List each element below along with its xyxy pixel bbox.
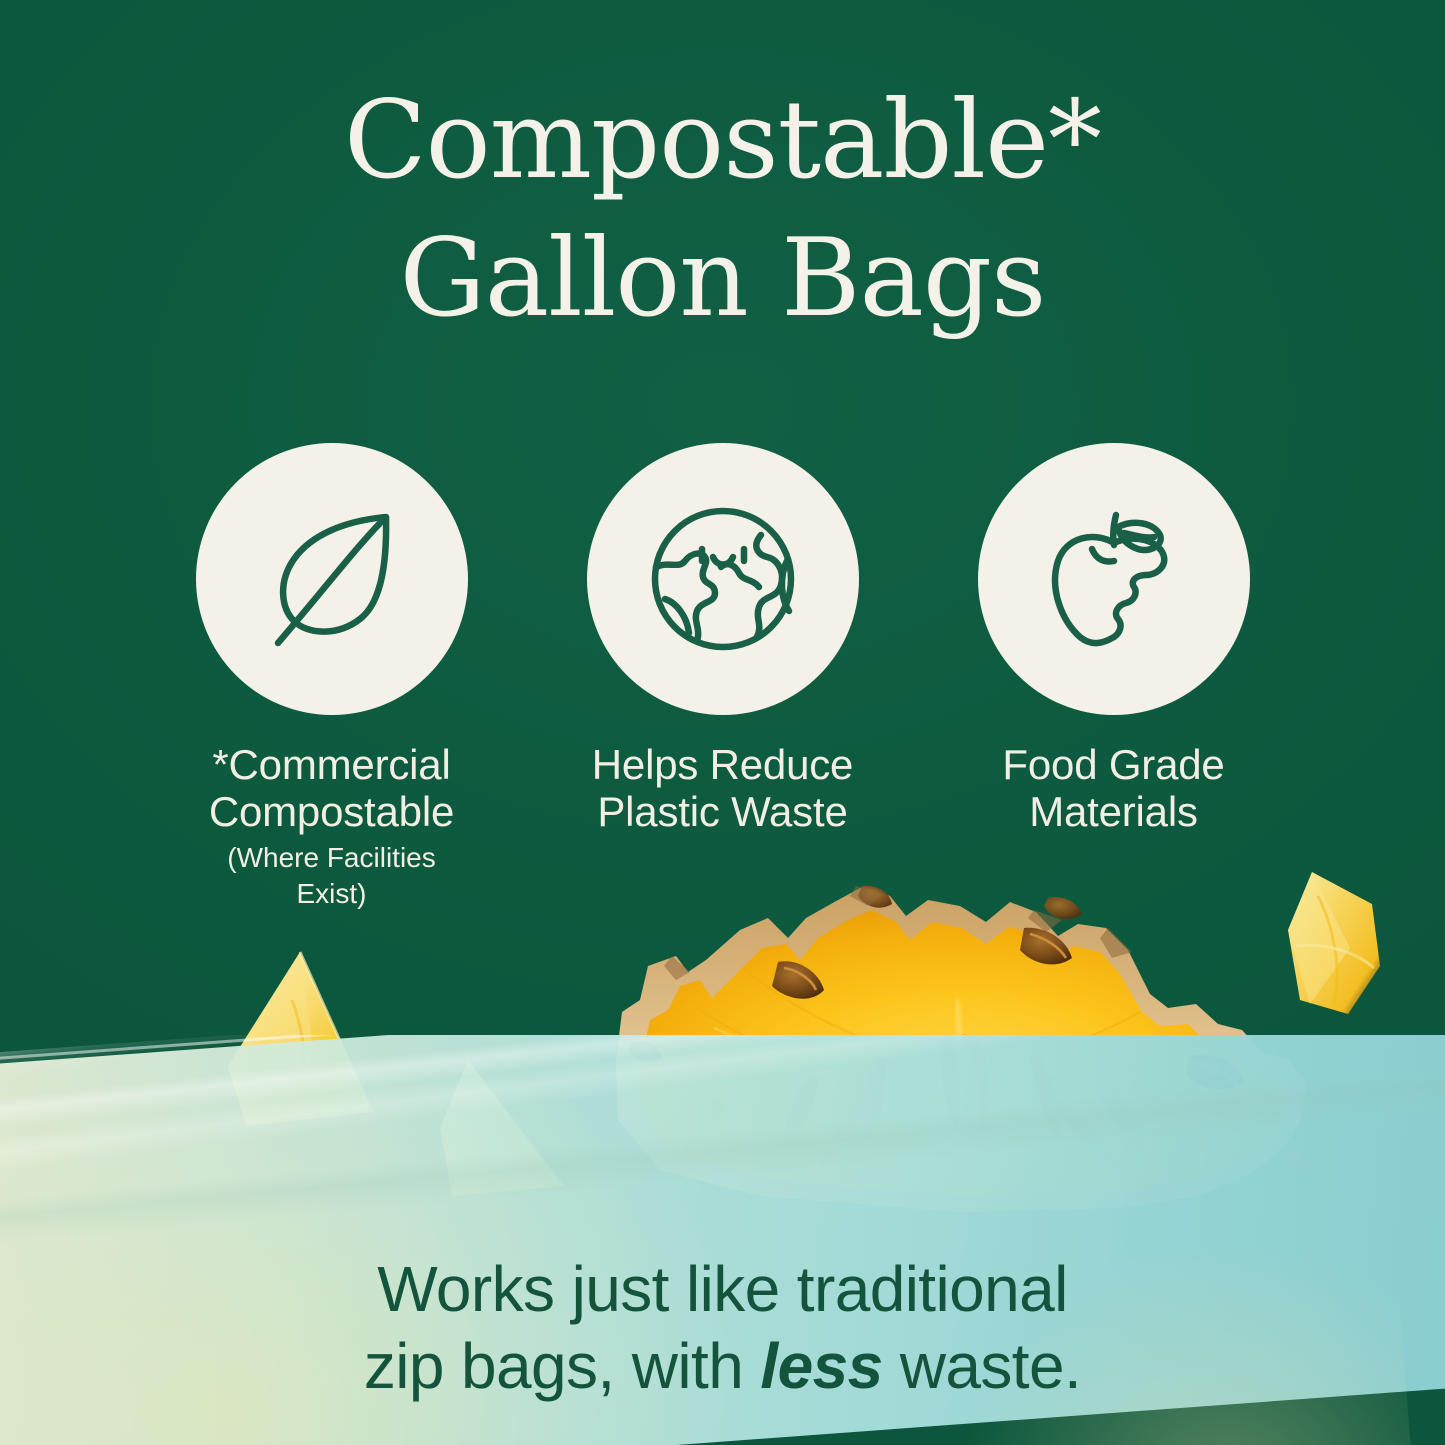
leaf-icon [248,495,416,663]
feature-caption: *Commercial Compostable (Where Facilitie… [196,741,468,913]
feature-icon-disc [978,443,1250,715]
tagline-line-2-a: zip bags, with [364,1330,761,1402]
page-title: Compostable* Gallon Bags [0,72,1445,348]
feature-row: *Commercial Compostable (Where Facilitie… [0,443,1445,913]
tagline-emphasis: less [760,1330,882,1402]
feature-helps-reduce-plastic-waste: Helps Reduce Plastic Waste [587,443,859,913]
headline-line-1: Compostable* [344,78,1101,203]
feature-label-line1: Food Grade [1002,741,1224,788]
feature-commercial-compostable: *Commercial Compostable (Where Facilitie… [196,443,468,913]
feature-caption: Helps Reduce Plastic Waste [592,741,853,836]
feature-icon-disc [196,443,468,715]
tagline-line-2-b: waste. [883,1330,1082,1402]
apple-bite-icon [1030,495,1198,663]
feature-label-line1: Helps Reduce [592,741,853,788]
tagline-line-2: zip bags, with less waste. [150,1328,1295,1405]
feature-note: (Where Facilities Exist) [196,840,468,913]
tagline: Works just like traditional zip bags, wi… [0,1251,1445,1405]
feature-icon-disc [587,443,859,715]
headline-line-2: Gallon Bags [120,210,1325,348]
feature-food-grade-materials: Food Grade Materials [978,443,1250,913]
feature-label-line2: Materials [1029,788,1198,835]
feature-caption: Food Grade Materials [1002,741,1224,836]
feature-label-line1: *Commercial [212,741,450,788]
feature-label-line2: Compostable [209,788,454,835]
earth-smile-icon [639,495,807,663]
feature-label-line2: Plastic Waste [597,788,847,835]
tagline-line-1: Works just like traditional [377,1253,1067,1325]
product-marketing-banner: Compostable* Gallon Bags *Commercial Com… [0,0,1445,1445]
